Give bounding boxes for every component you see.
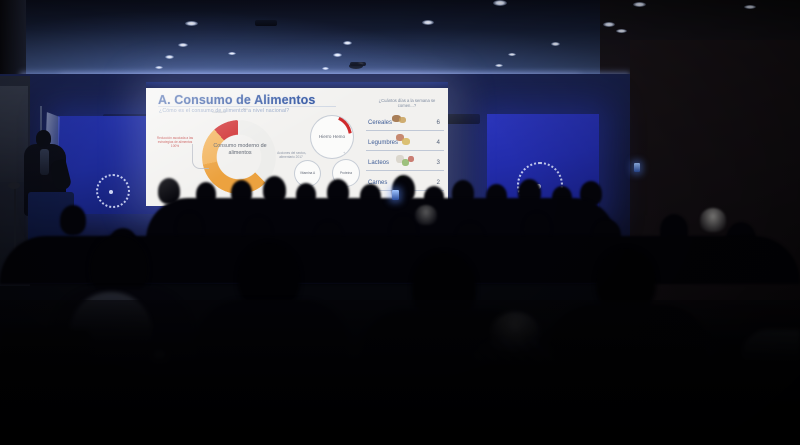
- ceiling-downlight: [155, 66, 163, 69]
- ceiling-downlight: [343, 41, 352, 45]
- table-row: Cereales 6: [366, 114, 444, 131]
- right-panel-question: ¿Cuántos días a la semana se comen...?: [370, 98, 444, 109]
- row-label: Lacteos: [368, 160, 389, 166]
- food-icon: [408, 156, 414, 162]
- donut-label-top2: Alto: [232, 107, 258, 111]
- audience-head: [60, 205, 86, 235]
- ceiling-downlight: [508, 53, 516, 56]
- ceiling-downlight: [165, 55, 174, 59]
- ceiling-downlight: [493, 0, 507, 6]
- row-label: Cereales: [368, 120, 392, 126]
- ceiling-downlight: [495, 64, 503, 67]
- microphone-stand: [14, 186, 16, 252]
- ceiling-downlight: [633, 2, 646, 7]
- slide-title: A. Consumo de Alimentos: [158, 93, 315, 107]
- audience-head-white-hair: [700, 208, 726, 232]
- ceiling-left-edge: [0, 0, 26, 80]
- plus-icon: +: [343, 150, 345, 155]
- row-value: 2: [437, 179, 440, 186]
- logo-dot-icon: [109, 190, 113, 194]
- row-value: 3: [437, 159, 440, 166]
- mid-annotation: Acciones del sector alimentario 2017: [274, 151, 308, 159]
- ceiling-downlight: [551, 42, 560, 46]
- ceiling-downlight: [178, 43, 188, 47]
- left-annotation: Reducción asociada a las estrategias de …: [154, 136, 196, 149]
- ceiling-downlight: [228, 52, 236, 55]
- table-row: Lacteos 3: [366, 154, 444, 171]
- logo-ring-icon: [96, 174, 130, 208]
- foreground-shadow: [0, 300, 800, 445]
- table-row: Legumbres 4: [366, 134, 444, 151]
- speaker-head: [36, 130, 51, 147]
- ceiling-downlight: [616, 29, 627, 33]
- row-value: 4: [437, 139, 440, 146]
- ceiling-downlight: [744, 5, 756, 9]
- phone-screen-glow: [392, 190, 399, 200]
- donut-label-top: Consumo: [206, 110, 232, 114]
- audience-head-white-hair: [415, 205, 437, 225]
- donut-center-label: Consumo moderno de alimentos: [212, 143, 268, 157]
- row-label: Legumbres: [368, 140, 398, 146]
- food-icon: [399, 117, 406, 123]
- food-icon: [402, 138, 410, 145]
- ceiling-vent: [255, 20, 277, 26]
- conference-photo: A. Consumo de Alimentos ¿Cómo es el cons…: [0, 0, 800, 445]
- ceiling-downlight: [603, 22, 615, 27]
- bubble-arc-indicator: [310, 115, 352, 157]
- microphone-icon: [8, 182, 20, 189]
- ceiling-downlight: [185, 21, 198, 26]
- ceiling-downlight: [422, 20, 434, 25]
- speaker-shirt: [40, 149, 49, 175]
- plus-icon: +: [304, 151, 306, 156]
- row-value: 6: [437, 119, 440, 126]
- ceiling-speaker: [349, 63, 363, 69]
- bubble-label: Vitamina A: [300, 171, 315, 175]
- bubble-label: Proteína: [340, 171, 352, 175]
- phone-screen-glow: [634, 163, 640, 172]
- ceiling-downlight: [333, 53, 342, 57]
